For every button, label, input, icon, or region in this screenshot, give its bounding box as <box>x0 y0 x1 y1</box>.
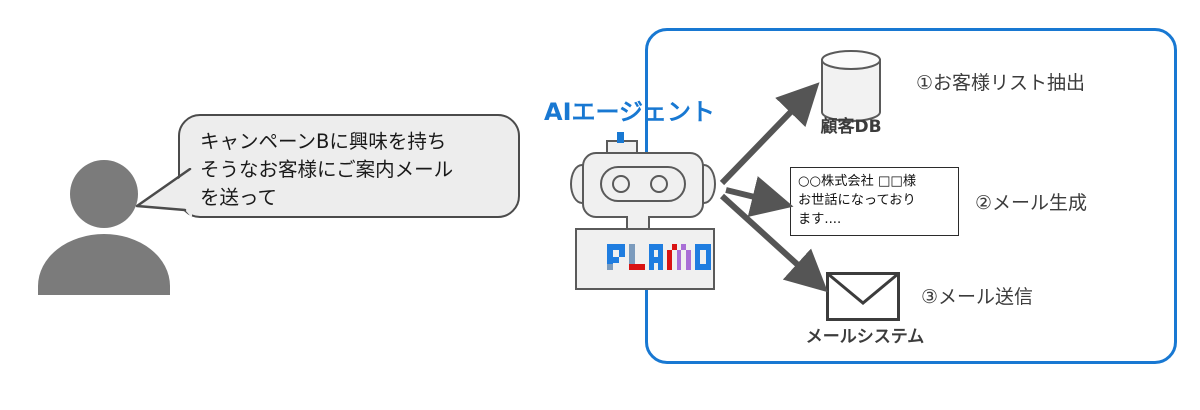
mail-draft-text: ○○株式会社 □□様 お世話になっており ます.... <box>798 172 954 229</box>
diagram-canvas: キャンペーンBに興味を持ち そうなお客様にご案内メール を送って AIエージェン… <box>0 0 1200 410</box>
robot-avatar <box>562 128 724 294</box>
avatar-body <box>38 234 170 295</box>
ai-agent-label: AIエージェント <box>544 92 764 127</box>
mail-system-label: メールシステム <box>775 322 955 347</box>
step-2-caption: ②メール生成 <box>975 188 1087 215</box>
envelope-icon <box>826 272 900 321</box>
speech-bubble-tail <box>130 168 192 220</box>
mail-draft-box: ○○株式会社 □□様 お世話になっており ます.... <box>790 167 959 236</box>
step-3-caption: ③メール送信 <box>921 282 1033 309</box>
plamo-logo <box>607 244 711 278</box>
avatar-head <box>70 160 138 228</box>
speech-bubble-text: キャンペーンBに興味を持ち そうなお客様にご案内メール を送って <box>200 128 504 212</box>
user-speech-bubble: キャンペーンBに興味を持ち そうなお客様にご案内メール を送って <box>178 114 520 218</box>
robot-antenna-tip-icon <box>617 132 624 143</box>
robot-torso <box>575 228 715 290</box>
robot-eye-left-icon <box>612 175 630 193</box>
robot-eye-right-icon <box>650 175 668 193</box>
step-1-caption: ①お客様リスト抽出 <box>916 68 1085 95</box>
customer-db-label: 顧客DB <box>795 112 907 137</box>
